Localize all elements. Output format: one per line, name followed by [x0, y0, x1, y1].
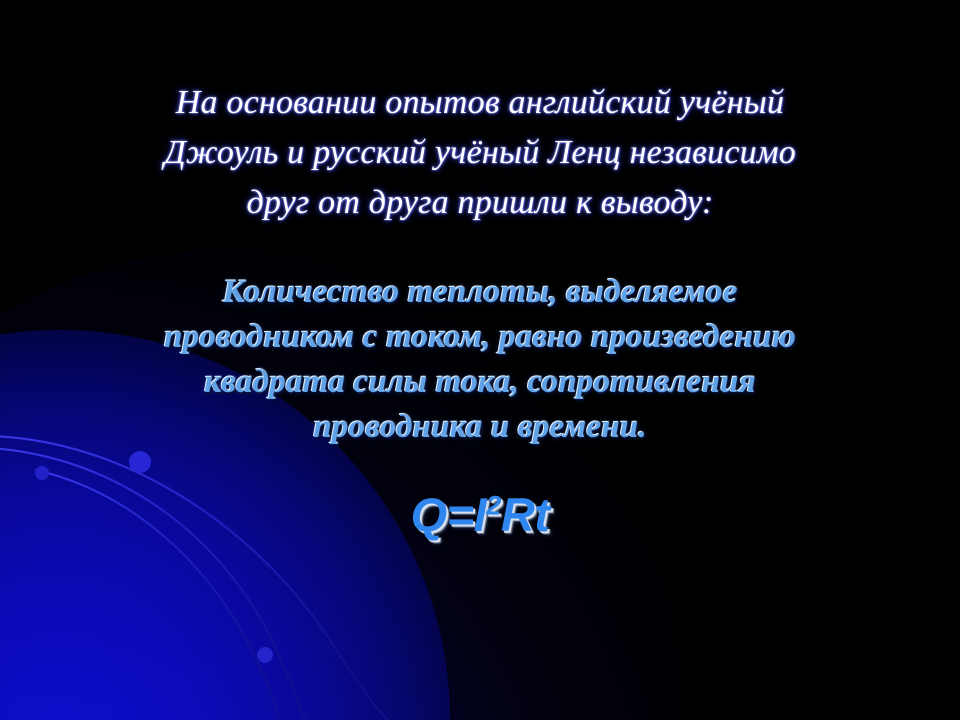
- statement-paragraph: Количество теплоты, выделяемое проводник…: [30, 270, 930, 450]
- formula-base: Q=I: [411, 488, 487, 541]
- formula-tail: Rt: [501, 488, 550, 541]
- statement-line-3: квадрата силы тока, сопротивления: [30, 360, 930, 405]
- joule-lenz-formula: Q=I2Rt: [30, 487, 930, 542]
- intro-line-2: Джоуль и русский учёный Ленц независимо: [30, 128, 930, 178]
- slide-content: На основании опытов английский учёный Дж…: [0, 0, 960, 720]
- presentation-slide: На основании опытов английский учёный Дж…: [0, 0, 960, 720]
- intro-paragraph: На основании опытов английский учёный Дж…: [30, 78, 930, 228]
- intro-line-1: На основании опытов английский учёный: [30, 78, 930, 128]
- statement-line-2: проводником с током, равно произведению: [30, 315, 930, 360]
- intro-line-3: друг от друга пришли к выводу:: [30, 178, 930, 228]
- statement-line-1: Количество теплоты, выделяемое: [30, 270, 930, 315]
- formula-exponent: 2: [486, 489, 501, 520]
- statement-line-4: проводника и времени.: [30, 405, 930, 450]
